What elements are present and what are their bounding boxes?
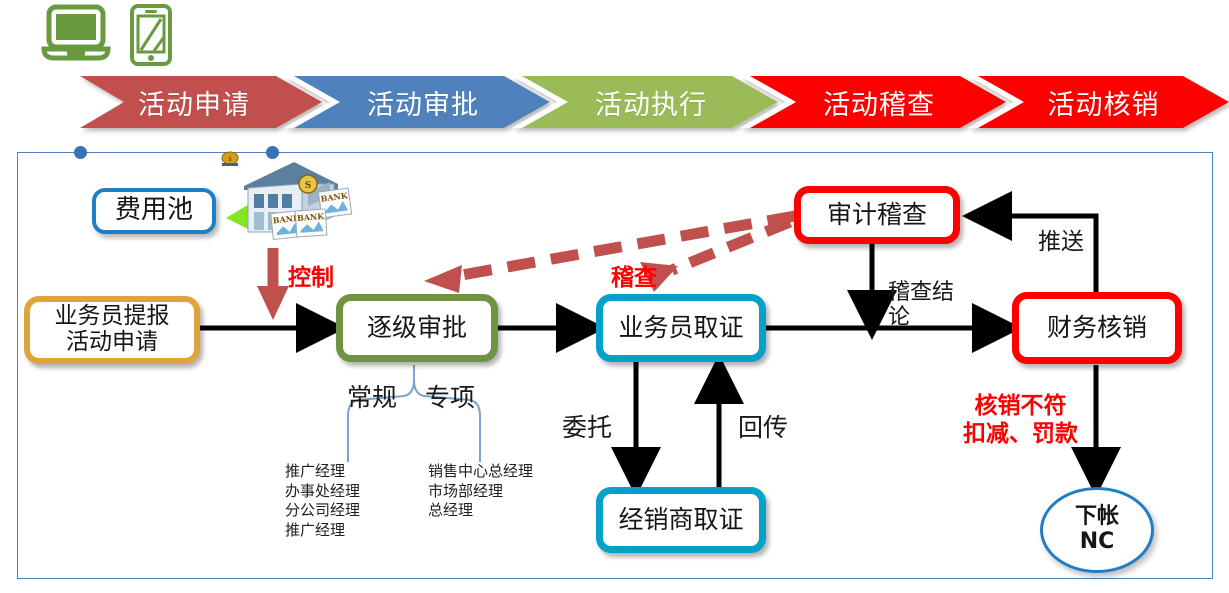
- node-rep-apply[interactable]: 业务员提报 活动申请: [24, 296, 200, 364]
- node-audit-inspect[interactable]: 审计稽查: [794, 186, 960, 244]
- edge-label-push: 推送: [1038, 222, 1084, 256]
- dashed-arrowhead-left: [424, 265, 462, 293]
- edge-label-inspect: 稽查: [611, 258, 657, 292]
- chevron-text-3: 活动执行: [595, 83, 721, 122]
- branch-label-special: 专项: [425, 378, 475, 414]
- edge-label-entrust: 委托: [562, 408, 612, 444]
- edge-inspect-dashed: [424, 216, 795, 293]
- node-post-account-label: 下帐 NC: [1075, 505, 1119, 554]
- node-post-account[interactable]: 下帐 NC: [1040, 487, 1154, 573]
- branch-label-routine: 常规: [347, 378, 397, 414]
- chevron-text-1: 活动申请: [138, 83, 264, 122]
- process-banner: 活动申请 活动审批 活动执行 活动稽查 活动核销: [80, 76, 1229, 128]
- node-dealer-evidence-label: 经销商取证: [618, 506, 743, 534]
- svg-text:S: S: [305, 181, 312, 191]
- edge-label-mismatch: 核销不符 扣减、罚款: [963, 392, 1078, 448]
- node-rep-apply-label: 业务员提报 活动申请: [55, 304, 170, 356]
- approver-list-routine: 推广经理 办事处经理 分公司经理 推广经理: [285, 462, 360, 540]
- edge-label-return: 回传: [738, 408, 788, 444]
- chevron-text-2: 活动审批: [367, 83, 493, 122]
- node-fee-pool-label: 费用池: [115, 196, 193, 225]
- node-tiered-approval[interactable]: 逐级审批: [336, 294, 498, 362]
- bank-building-icon: $ S BANK BANK BANK: [216, 150, 362, 260]
- node-finance-settle[interactable]: 财务核销: [1012, 292, 1182, 364]
- node-tiered-approval-label: 逐级审批: [367, 314, 467, 342]
- node-rep-evidence[interactable]: 业务员取证: [596, 294, 766, 362]
- node-audit-inspect-label: 审计稽查: [827, 201, 927, 229]
- edge-label-control: 控制: [288, 258, 334, 292]
- chevron-text-5: 活动核销: [1048, 83, 1174, 122]
- node-fee-pool[interactable]: 费用池: [92, 188, 216, 234]
- svg-text:$: $: [228, 156, 232, 163]
- edge-label-audit-result: 稽查结 论: [888, 280, 954, 330]
- chevron-text-4: 活动稽查: [823, 83, 949, 122]
- approver-list-special: 销售中心总经理 市场部经理 总经理: [428, 462, 533, 521]
- node-rep-evidence-label: 业务员取证: [618, 314, 743, 342]
- diagram-canvas: 活动申请 活动审批 活动执行 活动稽查 活动核销: [0, 0, 1229, 593]
- svg-text:BANK: BANK: [297, 211, 326, 223]
- node-finance-settle-label: 财务核销: [1047, 314, 1147, 342]
- node-dealer-evidence[interactable]: 经销商取证: [596, 487, 766, 553]
